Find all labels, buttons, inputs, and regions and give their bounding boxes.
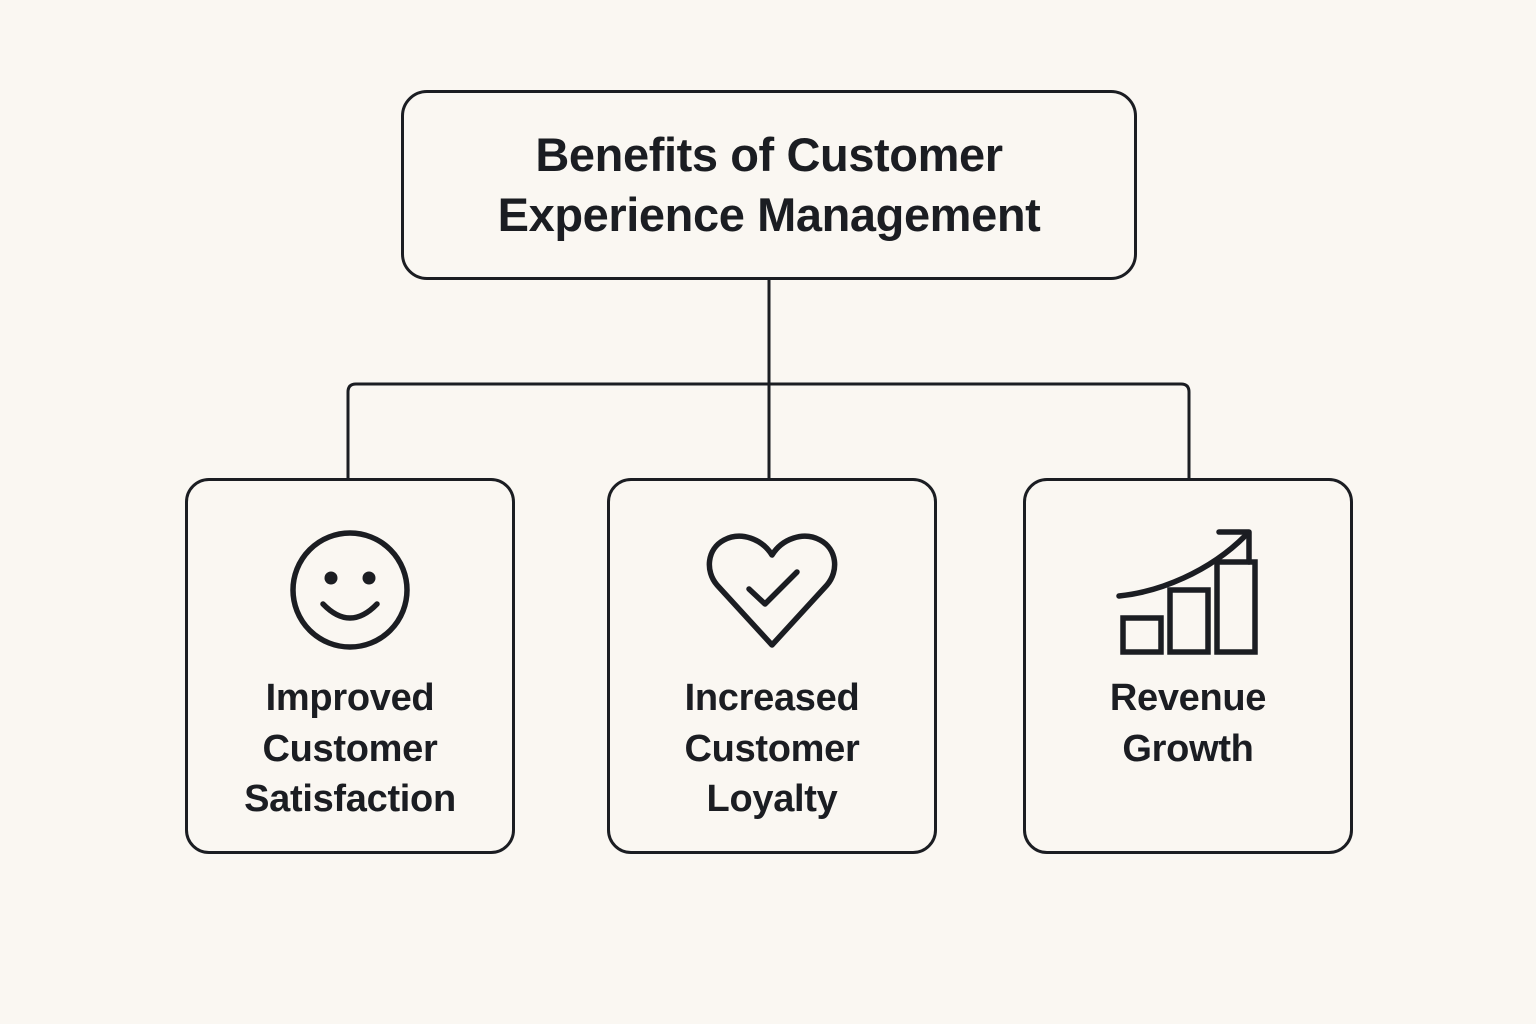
growth-bar-chart-arrow-icon (1113, 525, 1263, 655)
connector-bus-right (769, 384, 1189, 478)
benefit-card-increased-customer-loyalty[interactable]: Increased Customer Loyalty (607, 478, 937, 854)
connector-bus-left (348, 384, 769, 478)
heart-check-icon (704, 525, 840, 655)
benefit-card-label: Increased Customer Loyalty (673, 673, 872, 825)
smiley-face-icon (288, 525, 412, 655)
benefit-card-label: Revenue Growth (1098, 673, 1278, 774)
benefit-card-revenue-growth: Revenue Growth (1023, 478, 1353, 854)
benefit-card-label: Improved Customer Satisfaction (232, 673, 468, 825)
page-title: Benefits of Customer Experience Manageme… (498, 125, 1041, 245)
benefit-card-improved-customer-satisfaction[interactable]: Improved Customer Satisfaction (185, 478, 515, 854)
root-node-box[interactable]: Benefits of Customer Experience Manageme… (401, 90, 1137, 280)
diagram-canvas: Benefits of Customer Experience Manageme… (0, 0, 1536, 1024)
